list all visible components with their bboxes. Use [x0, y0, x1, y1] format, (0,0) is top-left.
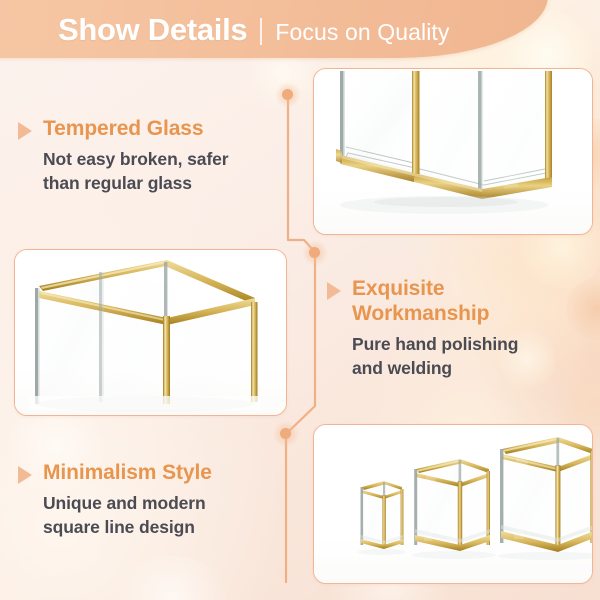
photo-image-glass-base-closeup — [314, 69, 592, 234]
feature-exquisite-workmanship-head: Exquisite Workmanship — [327, 276, 582, 326]
photo-image-glass-rim-closeup — [15, 250, 286, 415]
feature-exquisite-workmanship: Exquisite Workmanship Pure hand polishin… — [327, 276, 582, 380]
feature-exquisite-workmanship-title-line1: Exquisite — [352, 276, 489, 301]
photo-card-three-vase-sizes — [313, 424, 593, 584]
feature-exquisite-workmanship-body-line2: and welding — [352, 356, 582, 380]
connector-node-2 — [309, 247, 320, 258]
photo-card-glass-rim-closeup — [14, 249, 287, 416]
feature-minimalism-style-body: Unique and modern square line design — [43, 491, 268, 539]
feature-tempered-glass: Tempered Glass Not easy broken, safer th… — [18, 116, 268, 195]
page-subtitle: Focus on Quality — [275, 10, 449, 54]
glass-base-illustration — [314, 69, 592, 234]
feature-minimalism-style: Minimalism Style Unique and modern squar… — [18, 460, 268, 539]
three-vases-illustration — [314, 425, 592, 583]
vase-medium — [412, 459, 496, 559]
vase-large — [498, 437, 592, 560]
glass-rim-illustration — [15, 250, 286, 415]
feature-exquisite-workmanship-body-line1: Pure hand polishing — [352, 332, 582, 356]
feature-tempered-glass-body-line1: Not easy broken, safer — [43, 147, 268, 171]
triangle-right-icon — [327, 282, 341, 300]
connector-node-3 — [280, 428, 291, 439]
feature-tempered-glass-body: Not easy broken, safer than regular glas… — [43, 147, 268, 195]
title-divider — [260, 18, 262, 45]
triangle-right-icon — [18, 466, 32, 484]
feature-tempered-glass-head: Tempered Glass — [18, 116, 268, 141]
page-title: Show Details — [58, 8, 247, 52]
feature-minimalism-style-body-line2: square line design — [43, 515, 268, 539]
feature-tempered-glass-title: Tempered Glass — [43, 116, 203, 141]
connector-node-1 — [282, 89, 293, 100]
feature-minimalism-style-body-line1: Unique and modern — [43, 491, 268, 515]
vase-small — [358, 481, 406, 555]
feature-minimalism-style-head: Minimalism Style — [18, 460, 268, 485]
feature-exquisite-workmanship-body: Pure hand polishing and welding — [352, 332, 582, 380]
infographic-canvas: Show Details Focus on Quality — [0, 0, 600, 600]
feature-exquisite-workmanship-title-line2: Workmanship — [352, 301, 489, 326]
triangle-right-icon — [18, 122, 32, 140]
photo-image-three-vase-sizes — [314, 425, 592, 583]
feature-tempered-glass-body-line2: than regular glass — [43, 171, 268, 195]
feature-exquisite-workmanship-title: Exquisite Workmanship — [352, 276, 489, 326]
header-text-group: Show Details Focus on Quality — [58, 8, 450, 52]
feature-minimalism-style-title: Minimalism Style — [43, 460, 212, 485]
photo-card-glass-base-closeup — [313, 68, 593, 235]
